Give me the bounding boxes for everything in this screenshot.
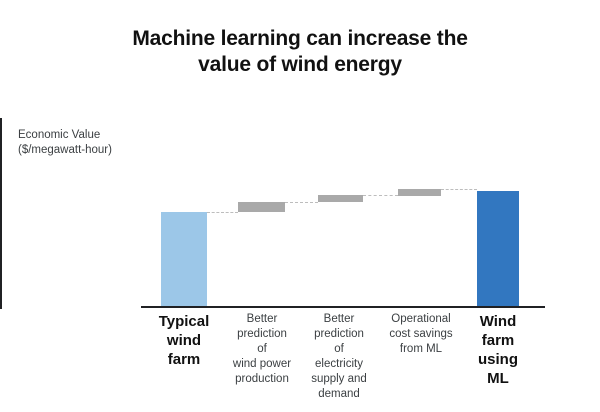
x-label-wind-farm-using-ml-line-3: using [478, 351, 518, 368]
x-label-better-electricity-prediction: Better prediction of electricity supply … [305, 312, 373, 402]
x-label-better-electricity-prediction-line-1: Better [324, 313, 355, 325]
connector-3 [363, 195, 398, 196]
x-label-wind-farm-using-ml-line-2: farm [482, 332, 515, 349]
bar-better-electricity-prediction [318, 195, 363, 202]
bar-operational-cost-savings [398, 189, 441, 196]
x-label-operational-cost-savings-line-2: cost savings [389, 328, 452, 340]
x-label-better-wind-power-prediction-line-5: production [235, 373, 289, 385]
x-label-typical-wind-farm-line-2: wind [167, 332, 201, 349]
x-label-operational-cost-savings: Operational cost savings from ML [382, 312, 460, 357]
x-label-better-electricity-prediction-line-6: demand [318, 388, 360, 400]
x-label-better-wind-power-prediction-line-1: Better [247, 313, 278, 325]
bar-typical-wind-farm [161, 212, 207, 306]
x-label-typical-wind-farm-line-1: Typical [159, 313, 210, 330]
y-axis-label: Economic Value ($/megawatt-hour) [18, 128, 143, 158]
chart-title-line-1: Machine learning can increase the [0, 26, 600, 52]
y-axis-label-line-2: ($/megawatt-hour) [18, 143, 143, 158]
bar-wind-farm-using-ml [477, 191, 519, 306]
x-label-wind-farm-using-ml-line-1: Wind [480, 313, 517, 330]
x-label-wind-farm-using-ml-line-4: ML [487, 370, 509, 387]
x-label-operational-cost-savings-line-3: from ML [400, 343, 442, 355]
y-axis-line [0, 118, 2, 309]
chart-title: Machine learning can increase the value … [0, 26, 600, 78]
x-label-better-wind-power-prediction-line-3: of [257, 343, 267, 355]
x-label-better-electricity-prediction-line-2: prediction [314, 328, 364, 340]
bar-better-wind-power-prediction [238, 202, 285, 212]
x-axis-category-labels: Typical wind farm Better prediction of w… [141, 312, 545, 412]
plot-area [141, 118, 545, 308]
waterfall-chart: Machine learning can increase the value … [0, 0, 600, 412]
x-label-better-wind-power-prediction-line-4: wind power [233, 358, 291, 370]
chart-title-line-2: value of wind energy [0, 52, 600, 78]
x-label-wind-farm-using-ml: Wind farm using ML [465, 312, 531, 388]
x-label-better-wind-power-prediction-line-2: prediction [237, 328, 287, 340]
x-label-typical-wind-farm-line-3: farm [168, 351, 201, 368]
connector-4 [441, 189, 477, 190]
x-label-operational-cost-savings-line-1: Operational [391, 313, 450, 325]
x-label-better-electricity-prediction-line-4: electricity [315, 358, 363, 370]
x-label-better-electricity-prediction-line-3: of [334, 343, 344, 355]
connector-1 [207, 212, 238, 213]
connector-2 [285, 202, 318, 203]
x-label-better-electricity-prediction-line-5: supply and [311, 373, 367, 385]
x-label-typical-wind-farm: Typical wind farm [147, 312, 221, 369]
x-label-better-wind-power-prediction: Better prediction of wind power producti… [228, 312, 296, 387]
y-axis-label-line-1: Economic Value [18, 128, 143, 143]
